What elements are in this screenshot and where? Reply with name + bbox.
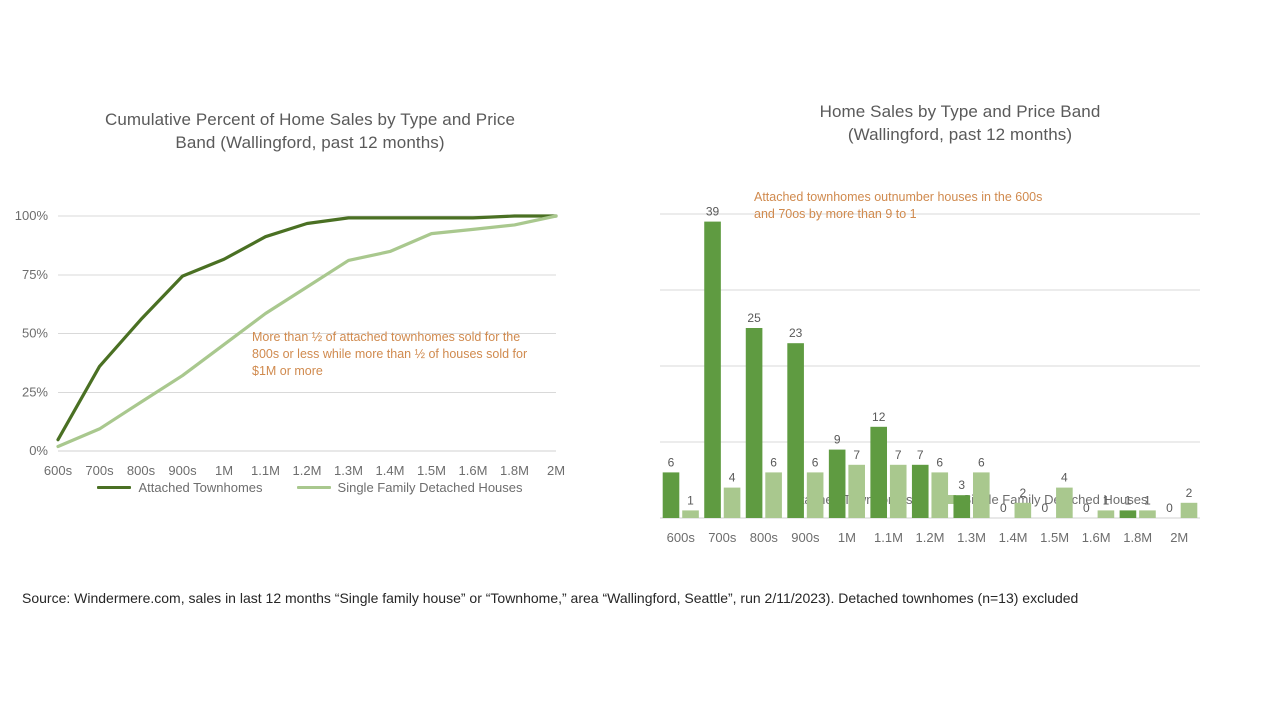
- bar-attached-townhomes-1.3M[interactable]: [953, 495, 970, 518]
- line-y-axis-tick: 50%: [22, 326, 48, 341]
- bar-x-axis-tick: 1.4M: [999, 530, 1028, 545]
- bar-data-label: 6: [978, 455, 985, 469]
- slide-canvas: Cumulative Percent of Home Sales by Type…: [0, 0, 1280, 720]
- line-x-axis-tick: 1.4M: [376, 463, 405, 478]
- bar-single-family-detached-houses-900s[interactable]: [807, 472, 824, 518]
- bar-attached-townhomes-1M[interactable]: [829, 450, 846, 518]
- bar-data-label: 6: [668, 455, 675, 469]
- legend-line-attached-townhomes: [97, 486, 131, 489]
- line-x-axis-tick: 1M: [215, 463, 233, 478]
- line-x-axis-tick: 1.1M: [251, 463, 280, 478]
- bar-data-label: 2: [1186, 486, 1193, 500]
- bar-x-axis-tick: 1.3M: [957, 530, 986, 545]
- bar-data-label: 25: [747, 311, 761, 325]
- bar-data-label: 0: [1042, 501, 1049, 515]
- bar-single-family-detached-houses-800s[interactable]: [765, 472, 782, 518]
- bar-x-axis-tick: 600s: [667, 530, 696, 545]
- line-x-axis-tick: 2M: [547, 463, 565, 478]
- line-chart-annotation: More than ½ of attached townhomes sold f…: [252, 329, 542, 380]
- bar-data-label: 1: [1125, 493, 1132, 507]
- bar-chart-annotation: Attached townhomes outnumber houses in t…: [754, 189, 1054, 223]
- bar-data-label: 7: [853, 448, 860, 462]
- bar-data-label: 2: [1019, 486, 1026, 500]
- line-chart-title-line2: Band (Wallingford, past 12 months): [60, 131, 560, 154]
- bar-data-label: 0: [1000, 501, 1007, 515]
- bar-data-label: 6: [936, 455, 943, 469]
- bar-data-label: 3: [958, 478, 965, 492]
- bar-x-axis-tick: 1M: [838, 530, 856, 545]
- line-plot-area: 0%25%50%75%100%600s700s800s900s1M1.1M1.2…: [0, 154, 620, 474]
- bar-x-axis-tick: 1.2M: [916, 530, 945, 545]
- bar-single-family-detached-houses-1.5M[interactable]: [1056, 488, 1073, 518]
- bar-legend-label-single-family-detached-houses: Single Family Detached Houses: [963, 492, 1148, 507]
- bar-chart-title: Home Sales by Type and Price Band (Walli…: [640, 100, 1280, 146]
- cumulative-line-chart: Cumulative Percent of Home Sales by Type…: [0, 108, 620, 528]
- bar-x-axis-tick: 1.1M: [874, 530, 903, 545]
- line-x-axis-tick: 800s: [127, 463, 156, 478]
- bar-data-label: 4: [1061, 471, 1068, 485]
- bar-single-family-detached-houses-1.3M[interactable]: [973, 472, 990, 518]
- home-sales-bar-chart: Home Sales by Type and Price Band (Walli…: [640, 100, 1280, 530]
- line-y-axis-tick: 100%: [15, 208, 49, 223]
- bar-data-label: 12: [872, 410, 886, 424]
- bar-single-family-detached-houses-1M[interactable]: [848, 465, 865, 518]
- legend-item-attached-townhomes[interactable]: Attached Townhomes: [97, 480, 262, 495]
- line-x-axis-tick: 700s: [85, 463, 114, 478]
- line-x-axis-tick: 1.2M: [293, 463, 322, 478]
- bar-attached-townhomes-600s[interactable]: [663, 472, 680, 518]
- line-x-axis-tick: 1.6M: [459, 463, 488, 478]
- bar-single-family-detached-houses-2M[interactable]: [1181, 503, 1198, 518]
- bar-data-label: 39: [706, 205, 720, 219]
- bar-x-axis-tick: 900s: [791, 530, 820, 545]
- line-y-axis-tick: 25%: [22, 384, 48, 399]
- bar-single-family-detached-houses-1.4M[interactable]: [1015, 503, 1032, 518]
- bar-data-label: 4: [729, 471, 736, 485]
- line-chart-svg: 0%25%50%75%100%600s700s800s900s1M1.1M1.2…: [0, 154, 620, 474]
- bar-attached-townhomes-1.2M[interactable]: [912, 465, 929, 518]
- bar-data-label: 1: [1103, 493, 1110, 507]
- line-chart-title-line1: Cumulative Percent of Home Sales by Type…: [60, 108, 560, 131]
- line-y-axis-tick: 75%: [22, 267, 48, 282]
- bar-single-family-detached-houses-1.8M[interactable]: [1139, 510, 1156, 518]
- bar-x-axis-tick: 1.5M: [1040, 530, 1069, 545]
- bar-single-family-detached-houses-600s[interactable]: [682, 510, 699, 518]
- bar-chart-title-line1: Home Sales by Type and Price Band: [700, 100, 1220, 123]
- line-chart-legend: Attached Townhomes Single Family Detache…: [0, 480, 620, 495]
- bar-x-axis-tick: 800s: [750, 530, 779, 545]
- legend-line-single-family-detached-houses: [297, 486, 331, 489]
- bar-x-axis-tick: 1.8M: [1123, 530, 1152, 545]
- bar-data-label: 6: [770, 455, 777, 469]
- bar-attached-townhomes-1.8M[interactable]: [1120, 510, 1137, 518]
- bar-x-axis-tick: 2M: [1170, 530, 1188, 545]
- legend-label-single-family-detached-houses: Single Family Detached Houses: [338, 480, 523, 495]
- bar-x-axis-tick: 1.6M: [1082, 530, 1111, 545]
- legend-label-attached-townhomes: Attached Townhomes: [138, 480, 262, 495]
- line-chart-title: Cumulative Percent of Home Sales by Type…: [0, 108, 620, 154]
- bar-attached-townhomes-800s[interactable]: [746, 328, 763, 518]
- bar-attached-townhomes-700s[interactable]: [704, 222, 721, 518]
- line-y-axis-tick: 0%: [29, 443, 48, 458]
- line-x-axis-tick: 1.5M: [417, 463, 446, 478]
- bar-data-label: 1: [687, 493, 694, 507]
- legend-item-single-family-detached-houses[interactable]: Single Family Detached Houses: [297, 480, 523, 495]
- bar-data-label: 0: [1166, 501, 1173, 515]
- bar-single-family-detached-houses-1.6M[interactable]: [1098, 510, 1115, 518]
- line-x-axis-tick: 900s: [168, 463, 197, 478]
- bar-data-label: 1: [1144, 493, 1151, 507]
- bar-attached-townhomes-900s[interactable]: [787, 343, 804, 518]
- bar-data-label: 23: [789, 326, 803, 340]
- source-note: Source: Windermere.com, sales in last 12…: [22, 588, 1262, 608]
- bar-chart-title-line2: (Wallingford, past 12 months): [700, 123, 1220, 146]
- bar-single-family-detached-houses-1.2M[interactable]: [931, 472, 948, 518]
- bar-data-label: 7: [895, 448, 902, 462]
- bar-data-label: 6: [812, 455, 819, 469]
- line-x-axis-tick: 1.3M: [334, 463, 363, 478]
- bar-attached-townhomes-1.1M[interactable]: [870, 427, 887, 518]
- bar-x-axis-tick: 700s: [708, 530, 737, 545]
- bar-single-family-detached-houses-1.1M[interactable]: [890, 465, 907, 518]
- bar-data-label: 9: [834, 433, 841, 447]
- line-x-axis-tick: 600s: [44, 463, 73, 478]
- bar-data-label: 0: [1083, 501, 1090, 515]
- bar-data-label: 7: [917, 448, 924, 462]
- line-x-axis-tick: 1.8M: [500, 463, 529, 478]
- bar-single-family-detached-houses-700s[interactable]: [724, 488, 741, 518]
